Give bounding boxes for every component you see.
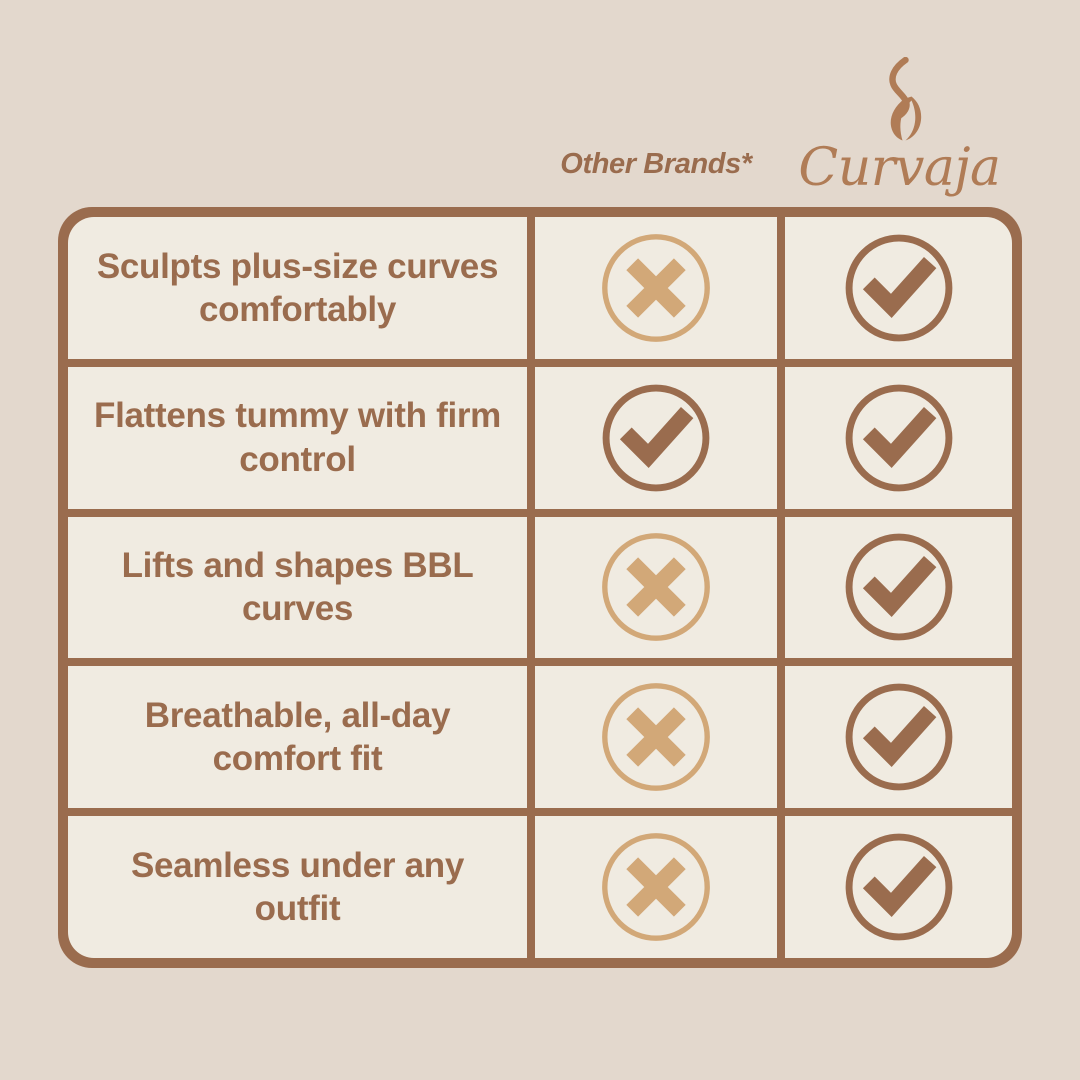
table-header: Other Brands* Curvaja — [0, 0, 1080, 207]
curvaja-cell — [785, 217, 1012, 359]
feature-label: Sculpts plus-size curves comfortably — [94, 245, 501, 332]
check-circle-icon — [835, 523, 963, 651]
curvaja-cell — [785, 517, 1012, 659]
check-circle-icon — [835, 823, 963, 951]
table-row: Breathable, all-day comfort fit — [68, 666, 1012, 808]
table-row: Flattens tummy with firm control — [68, 367, 1012, 509]
cross-circle-icon — [592, 823, 720, 951]
column-header-curvaja: Curvaja — [777, 55, 1022, 200]
check-circle-icon — [835, 374, 963, 502]
curvaja-cell — [785, 816, 1012, 958]
feature-cell: Sculpts plus-size curves comfortably — [68, 217, 527, 359]
column-header-other-brands: Other Brands* — [535, 148, 777, 181]
cross-circle-icon — [592, 673, 720, 801]
other-brands-cell — [535, 666, 777, 808]
cross-circle-icon — [592, 523, 720, 651]
table-row: Seamless under any outfit — [68, 816, 1012, 958]
other-brands-cell — [535, 367, 777, 509]
feature-cell: Seamless under any outfit — [68, 816, 527, 958]
comparison-infographic: Other Brands* Curvaja Sculpts plus-size … — [0, 0, 1080, 1080]
table-row: Sculpts plus-size curves comfortably — [68, 217, 1012, 359]
feature-label: Seamless under any outfit — [94, 844, 501, 931]
curvaja-cell — [785, 367, 1012, 509]
check-circle-icon — [592, 374, 720, 502]
comparison-table: Sculpts plus-size curves comfortably Fla… — [58, 207, 1022, 968]
feature-cell: Lifts and shapes BBL curves — [68, 517, 527, 659]
other-brands-cell — [535, 517, 777, 659]
check-circle-icon — [835, 224, 963, 352]
flame-swoosh-icon — [864, 57, 936, 143]
brand-wordmark: Curvaja — [777, 142, 1022, 194]
feature-label: Lifts and shapes BBL curves — [94, 544, 501, 631]
feature-cell: Breathable, all-day comfort fit — [68, 666, 527, 808]
feature-label: Flattens tummy with firm control — [94, 394, 501, 481]
other-brands-cell — [535, 816, 777, 958]
curvaja-cell — [785, 666, 1012, 808]
check-circle-icon — [835, 673, 963, 801]
feature-label: Breathable, all-day comfort fit — [94, 694, 501, 781]
feature-cell: Flattens tummy with firm control — [68, 367, 527, 509]
cross-circle-icon — [592, 224, 720, 352]
other-brands-cell — [535, 217, 777, 359]
table-row: Lifts and shapes BBL curves — [68, 517, 1012, 659]
